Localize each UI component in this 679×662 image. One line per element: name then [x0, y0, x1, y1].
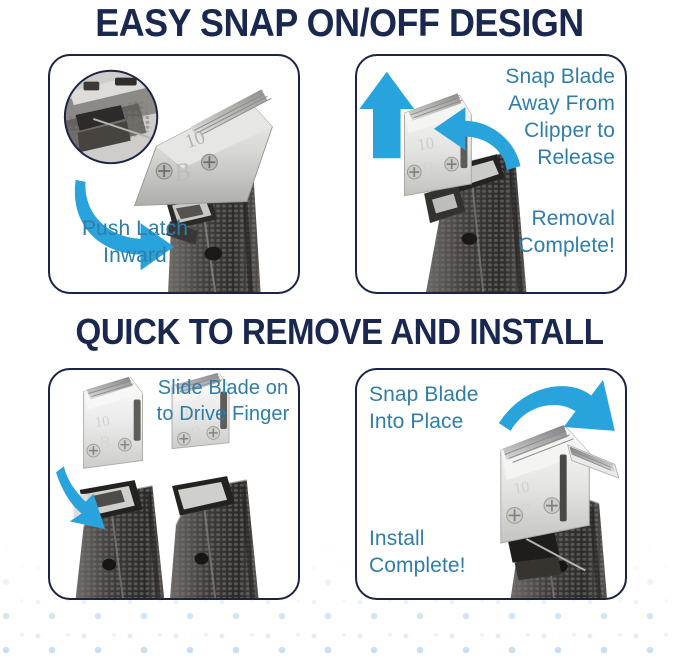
caption-slide-blade-on: Slide Blade on to Drive Finger: [142, 376, 300, 427]
caption-install-complete: Install Complete!: [369, 526, 519, 580]
blade-detached-icon: 10 B: [84, 377, 143, 468]
infographic-sheet: EASY SNAP ON/OFF DESIGN QUICK TO REMOVE …: [0, 0, 679, 662]
page-title-middle: QUICK TO REMOVE AND INSTALL: [27, 311, 652, 353]
page-title-top: EASY SNAP ON/OFF DESIGN: [27, 2, 652, 46]
panel-push-latch-inward: 10 B: [48, 54, 300, 294]
panel-snap-blade-into-place: 10 B Snap Blade Into Place Install Compl…: [355, 368, 627, 600]
caption-snap-blade-away: Snap Blade Away From Clipper to Release: [455, 64, 615, 172]
panel-snap-blade-away: 10 B Snap Blade Away From Clipper to Rel…: [355, 54, 627, 294]
caption-removal-complete: Removal Complete!: [455, 206, 615, 260]
clipper-open-latch-icon: [70, 478, 178, 598]
caption-snap-blade-into-place: Snap Blade Into Place: [369, 382, 519, 436]
inset-circle-latch-closeup: [65, 71, 157, 163]
svg-text:10: 10: [512, 478, 531, 497]
caption-push-latch-inward: Push Latch Inward: [60, 216, 210, 270]
svg-text:10: 10: [94, 414, 110, 431]
svg-text:10: 10: [416, 133, 435, 154]
panel-slide-blade-on: 10 B: [48, 368, 300, 600]
svg-text:B: B: [420, 158, 434, 181]
